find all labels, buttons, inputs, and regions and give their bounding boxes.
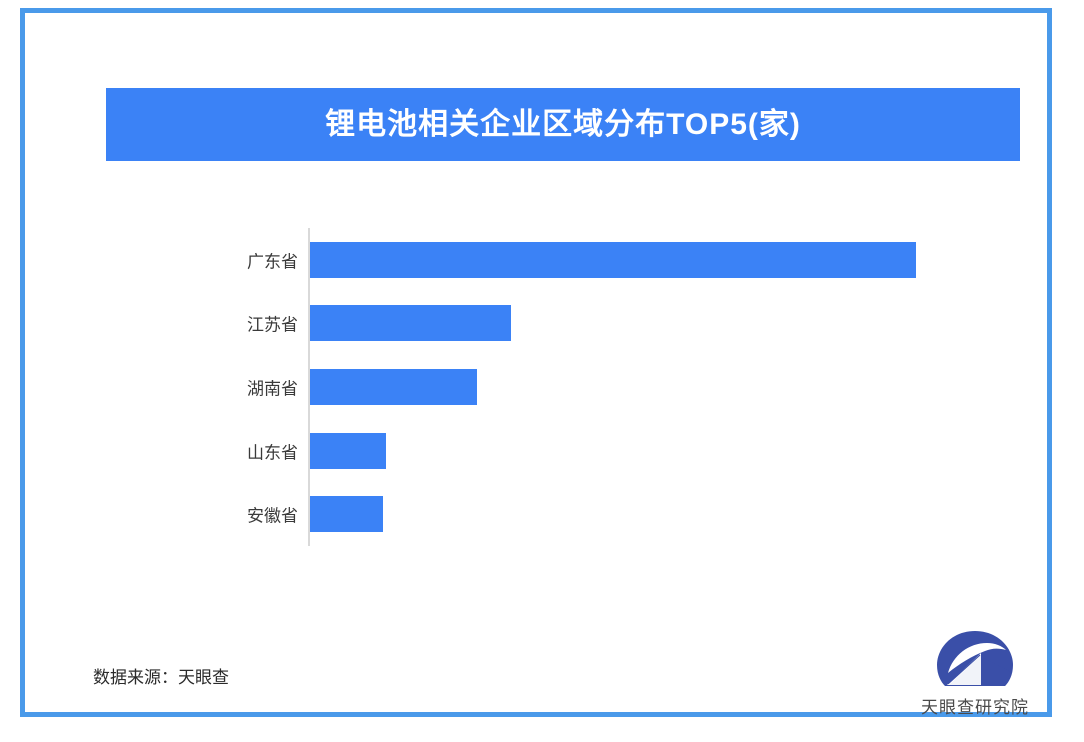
- dome-swoosh-icon: [935, 629, 1015, 687]
- bar-row: 广东省: [308, 228, 1028, 292]
- bar-row: 湖南省: [308, 355, 1028, 419]
- bar-安徽省: [310, 496, 383, 532]
- brand-name: 天眼查研究院: [921, 693, 1029, 718]
- bar-江苏省: [310, 305, 511, 341]
- chart-plot-area: 广东省江苏省湖南省山东省安徽省: [308, 228, 1028, 546]
- brand-logo: 天眼查研究院: [913, 629, 1037, 721]
- bar-湖南省: [310, 369, 477, 405]
- bar-山东省: [310, 433, 386, 469]
- bar-category-label: 广东省: [247, 247, 298, 272]
- bar-广东省: [310, 242, 916, 278]
- bar-chart: 广东省江苏省湖南省山东省安徽省: [25, 213, 1084, 573]
- data-source-note: 数据来源：天眼查: [93, 663, 229, 688]
- bar-category-label: 山东省: [247, 438, 298, 463]
- title-banner: 锂电池相关企业区域分布TOP5(家): [106, 88, 1020, 161]
- page-title: 锂电池相关企业区域分布TOP5(家): [325, 110, 801, 140]
- bar-category-label: 湖南省: [247, 374, 298, 399]
- bar-row: 江苏省: [308, 292, 1028, 356]
- bar-row: 安徽省: [308, 482, 1028, 546]
- bar-category-label: 安徽省: [247, 502, 298, 527]
- bar-row: 山东省: [308, 419, 1028, 483]
- bar-category-label: 江苏省: [247, 311, 298, 336]
- infographic-frame: 锂电池相关企业区域分布TOP5(家) 广东省江苏省湖南省山东省安徽省 数据来源：…: [20, 8, 1052, 717]
